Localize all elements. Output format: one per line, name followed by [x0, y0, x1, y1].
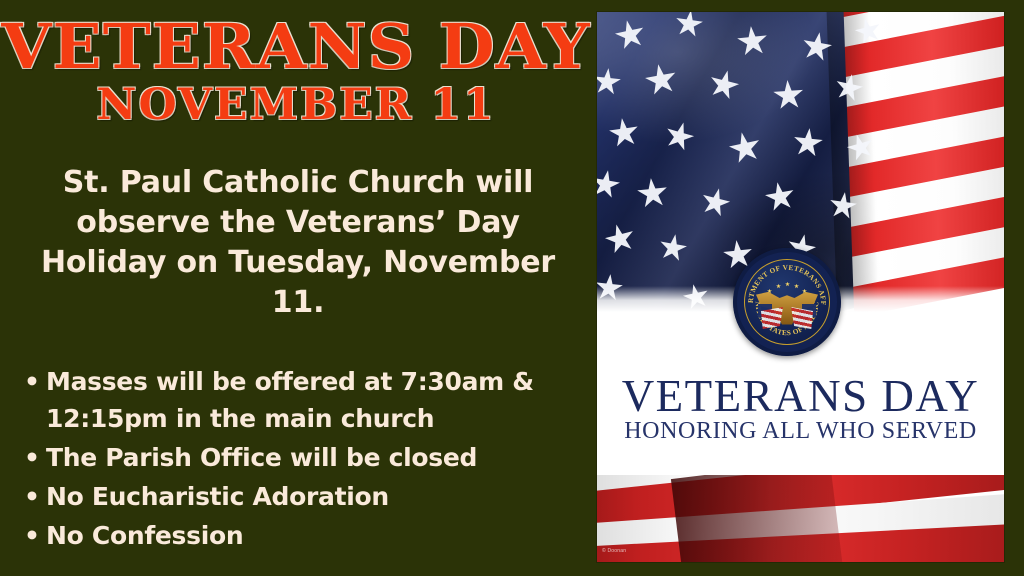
- list-item: • Masses will be offered at 7:30am & 12:…: [16, 363, 586, 437]
- bullet-icon: •: [24, 363, 40, 400]
- page-title: VETERANS DAY: [0, 14, 604, 80]
- veterans-day-flyer: VETERANS DAY NOVEMBER 11 St. Paul Cathol…: [0, 0, 1024, 576]
- bullet-icon: •: [24, 439, 40, 476]
- seal-inner-field: DEPARTMENT OF VETERANS AFFAIRS UNITED ST…: [744, 259, 830, 345]
- list-item-label: Masses will be offered at 7:30am & 12:15…: [46, 367, 534, 433]
- flag-stripes: [843, 12, 1004, 312]
- bullet-icon: •: [24, 517, 40, 554]
- text-column: VETERANS DAY NOVEMBER 11 St. Paul Cathol…: [0, 0, 592, 576]
- list-item-label: No Confession: [46, 521, 243, 550]
- flag-fold-shadow: [671, 475, 843, 562]
- list-item-label: No Eucharistic Adoration: [46, 482, 389, 511]
- bullet-icon: •: [24, 478, 40, 515]
- image-credit: © Doonan: [602, 548, 626, 555]
- announcement-paragraph: St. Paul Catholic Church will observe th…: [22, 163, 574, 323]
- va-poster-image: DEPARTMENT OF VETERANS AFFAIRS UNITED ST…: [597, 12, 1004, 562]
- seal-stars: [767, 283, 807, 295]
- headline-block: VETERANS DAY NOVEMBER 11: [0, 14, 592, 128]
- list-item: • No Eucharistic Adoration: [16, 478, 586, 515]
- lower-flag-band: © Doonan: [597, 475, 1004, 562]
- list-item: • The Parish Office will be closed: [16, 439, 586, 476]
- poster-title: VETERANS DAY: [597, 372, 1004, 420]
- poster-wordmark: VETERANS DAY HONORING ALL WHO SERVED: [597, 372, 1004, 444]
- list-item: • No Confession: [16, 517, 586, 554]
- va-seal-icon: DEPARTMENT OF VETERANS AFFAIRS UNITED ST…: [733, 248, 841, 356]
- page-subtitle-date: NOVEMBER 11: [0, 82, 598, 128]
- list-item-label: The Parish Office will be closed: [46, 443, 477, 472]
- details-list: • Masses will be offered at 7:30am & 12:…: [16, 363, 586, 556]
- poster-tagline: HONORING ALL WHO SERVED: [597, 418, 1004, 444]
